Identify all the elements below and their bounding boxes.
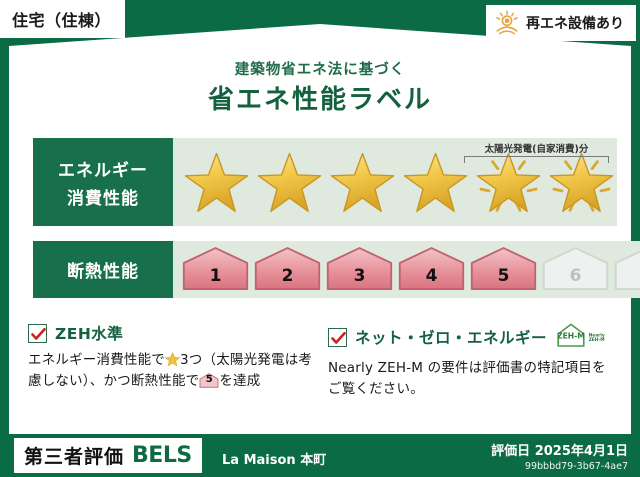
insulation-grade-achieved: 4 [397, 246, 466, 293]
evaluation-info: 評価日 2025年4月1日 99bbbd79-3b67-4ae7 [491, 440, 628, 472]
renewable-equipment-badge: 再エネ設備あり [486, 5, 636, 41]
bels-certification-box: 第三者評価 BELS [14, 438, 202, 473]
insulation-grade-empty: 6 [541, 246, 610, 293]
inline-star-icon [165, 352, 180, 367]
net-zero-energy-block: ネット・ゼロ・エネルギー ZEH-M Nearly ZEH-M Nearly Z… [328, 322, 613, 400]
star-filled [254, 145, 325, 219]
insulation-grade-empty: 7 [613, 246, 640, 293]
zeh-desc-part3: を達成 [219, 373, 260, 389]
star-filled [327, 145, 398, 219]
insulation-grade-achieved: 1 [181, 246, 250, 293]
checkbox-checked-icon [328, 328, 347, 347]
energy-performance-row: エネルギー 消費性能 太陽光発電(自家消費)分 [33, 138, 609, 226]
net-zero-energy-description: Nearly ZEH-M の要件は評価書の特記項目をご覧ください。 [328, 358, 613, 400]
page-title: 省エネ性能ラベル [0, 79, 640, 116]
evaluation-date-label: 評価日 [491, 444, 530, 459]
label-subtitle: 建築物省エネ法に基づく [0, 58, 640, 79]
insulation-grade-achieved: 3 [325, 246, 394, 293]
svg-text:ZEH-M: ZEH-M [589, 337, 605, 343]
evaluation-date-value: 2025年4月1日 [535, 444, 628, 459]
building-type-tag: 住宅（住棟） [0, 0, 125, 38]
inline-grade-house-icon: 5 [199, 373, 219, 388]
zeh-standard-header: ZEH水準 [28, 322, 313, 344]
star-filled [400, 145, 471, 219]
energy-rating-area: 太陽光発電(自家消費)分 [173, 138, 617, 226]
energy-label-line1: エネルギー [58, 156, 148, 181]
insulation-performance-row: 断熱性能 1 2 [33, 241, 609, 298]
inline-grade-number: 5 [199, 372, 219, 388]
insulation-grade-achieved: 2 [253, 246, 322, 293]
label-footer: 第三者評価 BELS La Maison 本町 評価日 2025年4月1日 99… [0, 434, 640, 477]
evaluation-date: 評価日 2025年4月1日 [491, 440, 628, 459]
star-filled [181, 145, 252, 219]
zeh-standard-block: ZEH水準 エネルギー消費性能で3つ（太陽光発電は考慮しない）、かつ断熱性能で5… [28, 322, 313, 392]
energy-performance-label: 住宅（住棟） 再エネ設備あり 建築物省エネ法に基づく 省エネ性能ラベル [0, 0, 640, 477]
bels-logo-text: BELS [132, 443, 192, 468]
energy-performance-label-box: エネルギー 消費性能 [33, 138, 173, 226]
zeh-standard-description: エネルギー消費性能で3つ（太陽光発電は考慮しない）、かつ断熱性能で5を達成 [28, 350, 313, 392]
energy-label-line2: 消費性能 [67, 184, 139, 209]
third-party-label: 第三者評価 [24, 442, 124, 469]
checkbox-checked-icon [28, 324, 47, 343]
insulation-rating-area: 1 2 3 4 [173, 241, 640, 298]
building-name: La Maison 本町 [222, 449, 326, 468]
insulation-grade-scale: 1 2 3 4 [173, 246, 640, 293]
sun-renewable-icon [494, 10, 520, 36]
zeh-standard-title: ZEH水準 [55, 322, 123, 344]
bracket-line [464, 156, 609, 163]
zeh-desc-part1: エネルギー消費性能で [28, 352, 165, 368]
net-zero-energy-header: ネット・ゼロ・エネルギー ZEH-M Nearly ZEH-M [328, 322, 613, 352]
renewable-badge-label: 再エネ設備あり [526, 13, 624, 33]
insulation-grade-achieved: 5 [469, 246, 538, 293]
zeh-m-logo-icon: ZEH-M Nearly ZEH-M [555, 322, 611, 352]
insulation-label: 断熱性能 [67, 257, 139, 282]
solar-caption: 太陽光発電(自家消費)分 [464, 141, 609, 155]
insulation-performance-label-box: 断熱性能 [33, 241, 173, 298]
evaluation-id: 99bbbd79-3b67-4ae7 [491, 461, 628, 472]
net-zero-energy-title: ネット・ゼロ・エネルギー [355, 326, 547, 348]
svg-text:ZEH-M: ZEH-M [557, 331, 585, 340]
solar-generation-bracket: 太陽光発電(自家消費)分 [464, 141, 609, 163]
